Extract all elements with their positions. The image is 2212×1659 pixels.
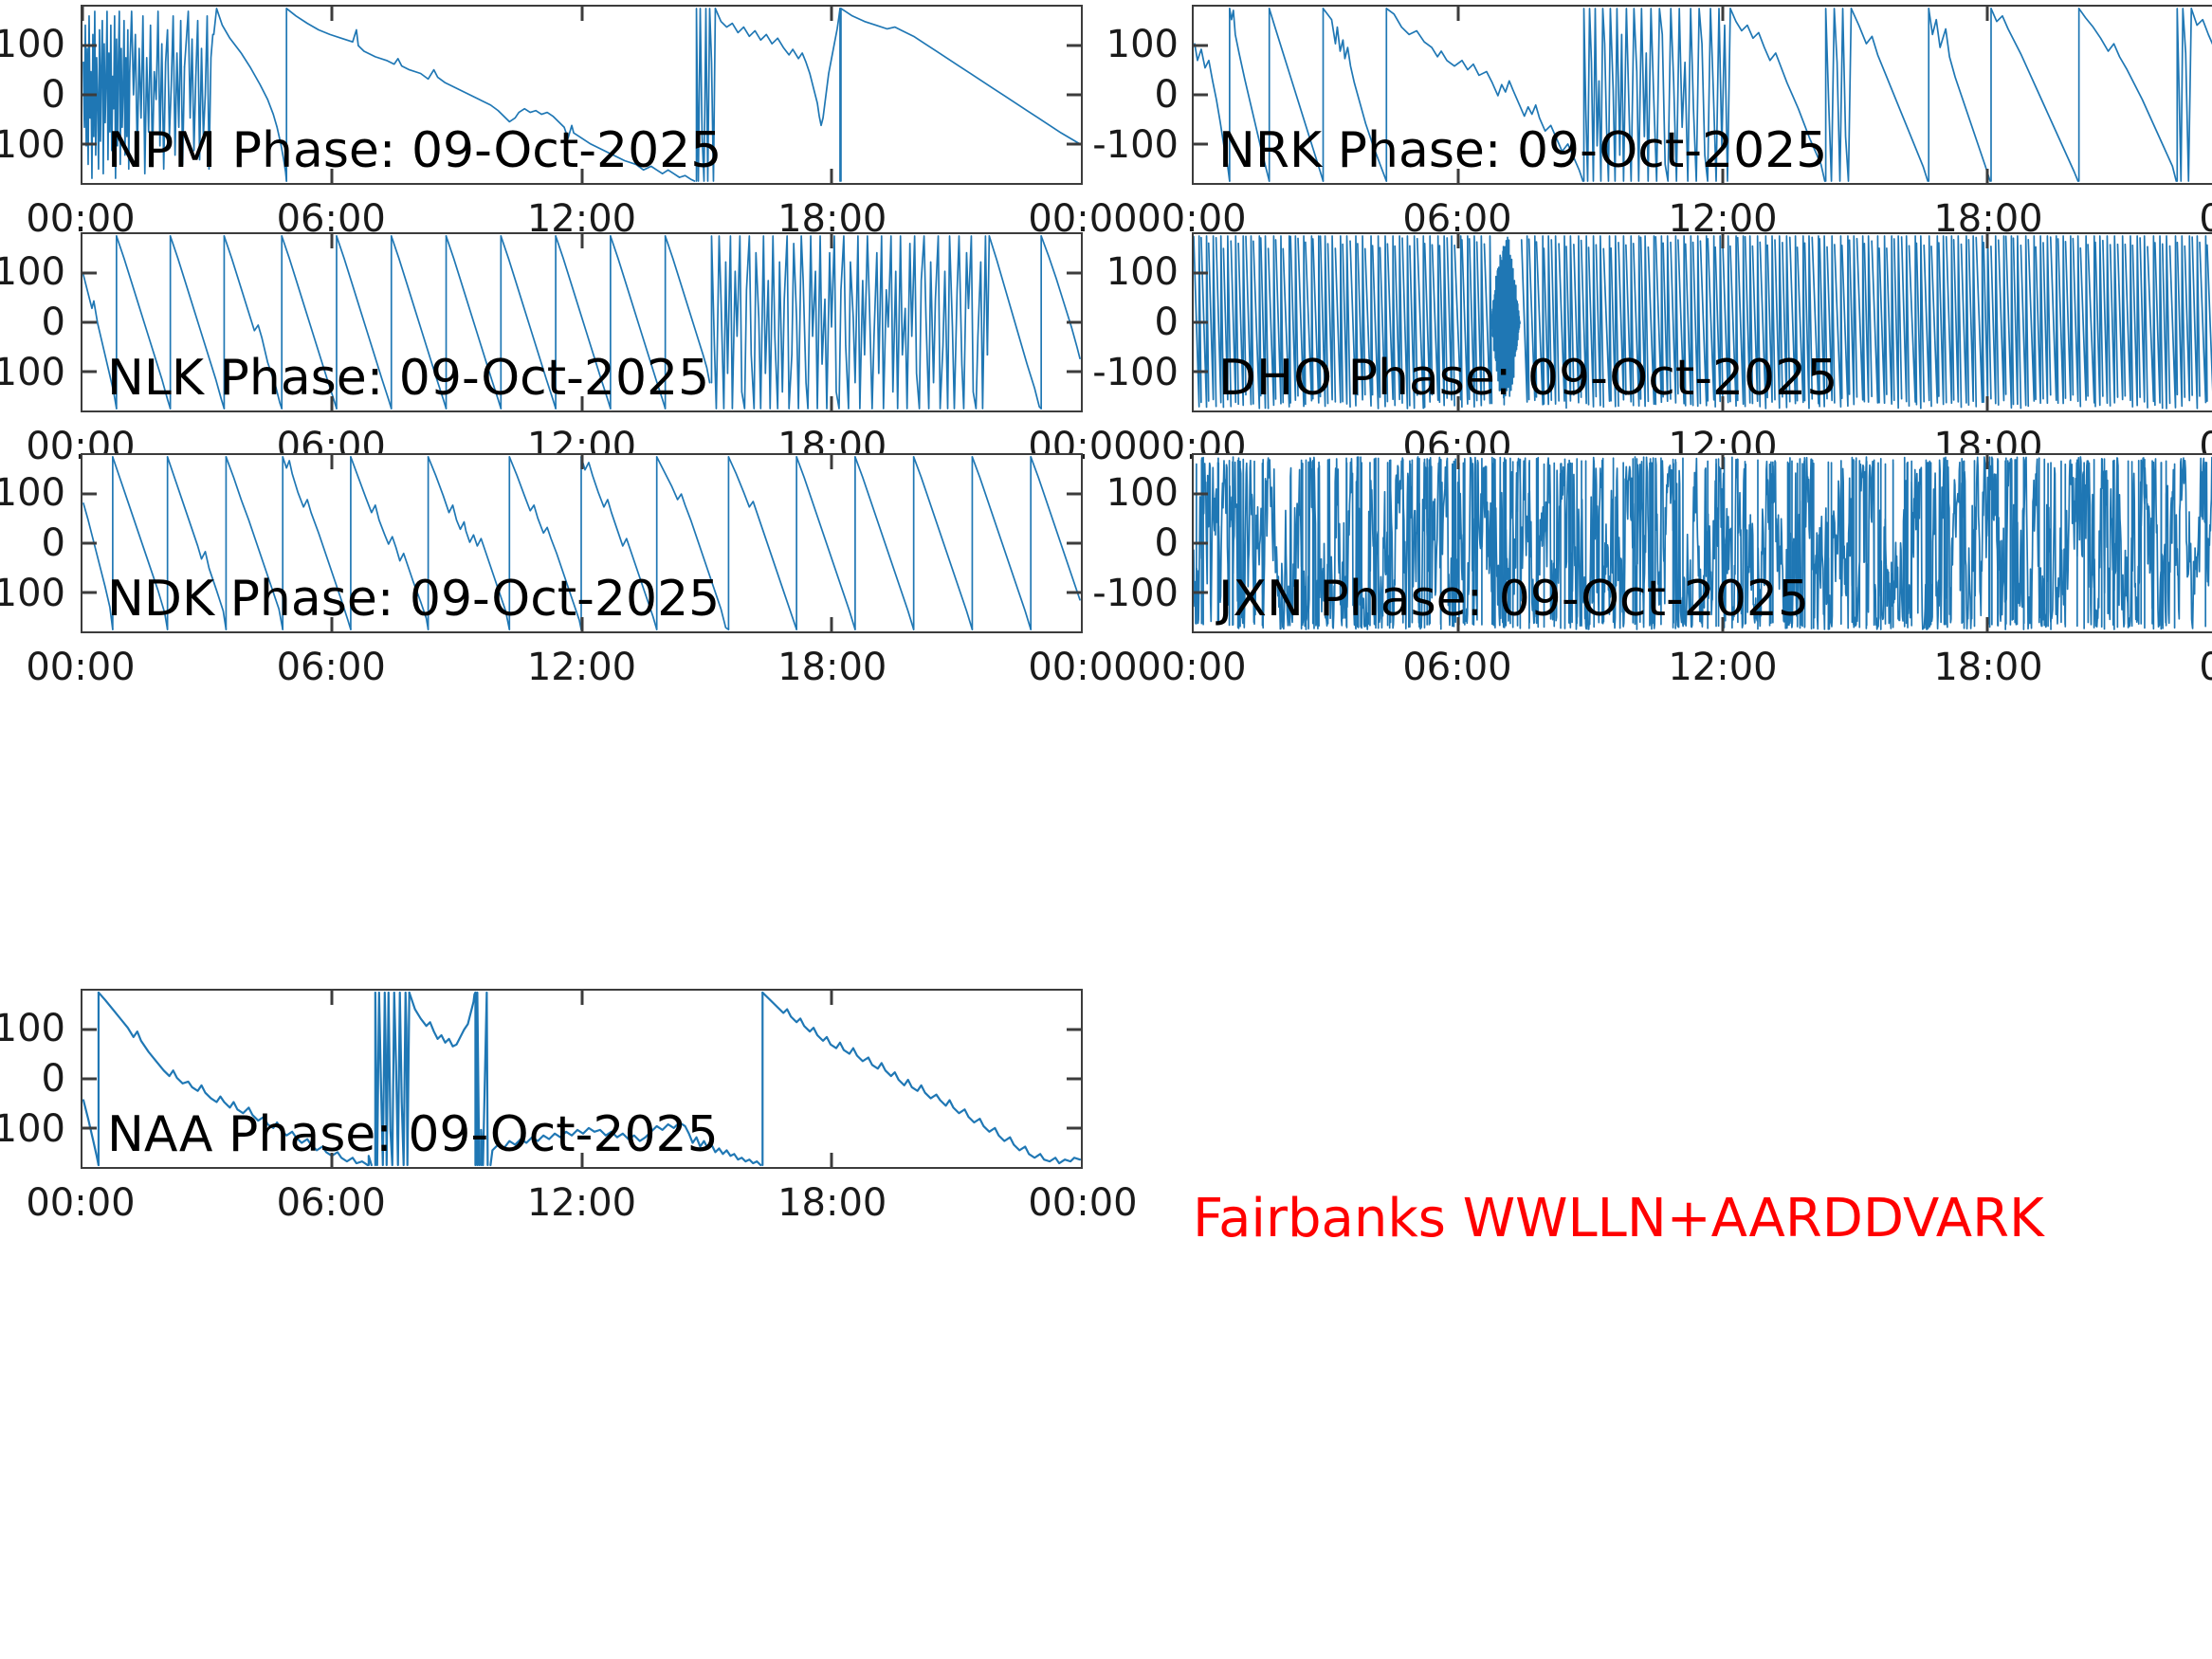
xtick-label-ndk-6: 06:00 <box>277 648 386 686</box>
ytick-mark-right-neg100 <box>1067 370 1081 373</box>
plot-area-npm <box>82 7 1081 183</box>
ytick-mark-0 <box>82 1078 97 1081</box>
ytick-mark-right-100 <box>1067 1029 1081 1031</box>
xtick-label-naa-12: 12:00 <box>527 1184 636 1222</box>
xtick-label-jxn-12: 12:00 <box>1668 648 1777 686</box>
xtick-label-jxn-0: 00:00 <box>1137 648 1246 686</box>
ytick-label-ndk-neg100: 100 <box>0 574 65 612</box>
ytick-label-nlk-100: 100 <box>0 253 65 291</box>
axes-ndk: NDK Phase: 09-Oct-2025 <box>81 453 1083 633</box>
ytick-mark-0 <box>82 94 97 97</box>
ytick-mark-right-neg100 <box>1067 591 1081 593</box>
axes-dho: DHO Phase: 09-Oct-2025 <box>1192 232 2212 412</box>
ytick-label-naa-neg100: 100 <box>0 1110 65 1148</box>
xtick-mark-12 <box>1722 7 1725 21</box>
trace-ndk <box>83 457 1080 629</box>
trace-jxn <box>1194 457 2212 629</box>
xtick-mark-18 <box>1986 7 1989 21</box>
plot-area-naa <box>82 991 1081 1167</box>
ytick-mark-neg100 <box>82 1126 97 1129</box>
trace-naa <box>83 993 1080 1165</box>
xtick-label-ndk-0: 00:00 <box>26 648 135 686</box>
xtick-label-jxn-24: 00:00 <box>2199 648 2212 686</box>
ytick-mark-right-neg100 <box>1067 142 1081 145</box>
panel-nlk: NLK Phase: 09-Oct-2025 100 0 100 00:00 0… <box>81 232 1083 412</box>
xtick-mark-12 <box>580 455 583 469</box>
xtick-mark-bot-12 <box>580 1153 583 1167</box>
ytick-mark-100 <box>1194 45 1208 47</box>
panel-ndk: NDK Phase: 09-Oct-2025 100 0 100 00:00 0… <box>81 453 1083 633</box>
axes-nlk: NLK Phase: 09-Oct-2025 <box>81 232 1083 412</box>
ytick-mark-right-100 <box>1067 272 1081 275</box>
trace-nrk <box>1195 9 2212 181</box>
ytick-mark-right-100 <box>1067 45 1081 47</box>
xtick-mark-bot-18 <box>830 169 832 183</box>
ytick-mark-100 <box>1194 493 1208 496</box>
ytick-mark-neg100 <box>82 370 97 373</box>
ytick-label-jxn-0: 0 <box>1155 524 1179 562</box>
ytick-label-nrk-neg100: -100 <box>1092 126 1179 164</box>
xtick-label-ndk-24: 00:00 <box>1028 648 1137 686</box>
xtick-mark-18 <box>830 7 832 21</box>
ytick-mark-right-0 <box>1067 1078 1081 1081</box>
xtick-mark-bot-6 <box>331 617 334 631</box>
ytick-mark-100 <box>82 45 97 47</box>
ytick-mark-neg100 <box>1194 370 1208 373</box>
xtick-mark-12 <box>1722 455 1725 469</box>
xtick-label-naa-0: 00:00 <box>26 1184 135 1222</box>
ytick-mark-right-neg100 <box>1067 1126 1081 1129</box>
xtick-mark-12 <box>1722 234 1725 248</box>
xtick-label-naa-6: 06:00 <box>277 1184 386 1222</box>
ytick-mark-0 <box>1194 94 1208 97</box>
ytick-label-ndk-0: 0 <box>0 524 65 562</box>
xtick-mark-12 <box>580 991 583 1005</box>
xtick-mark-bot-6 <box>331 396 334 410</box>
xtick-mark-18 <box>830 234 832 248</box>
xtick-mark-18 <box>1986 234 1989 248</box>
xtick-mark-bot-6 <box>1457 396 1460 410</box>
xtick-mark-6 <box>1457 7 1460 21</box>
ytick-mark-right-100 <box>1067 493 1081 496</box>
axes-jxn: JXN Phase: 09-Oct-2025 <box>1192 453 2212 633</box>
ytick-mark-0 <box>82 542 97 545</box>
ytick-label-nrk-100: 100 <box>1106 26 1179 64</box>
ytick-mark-100 <box>82 272 97 275</box>
xtick-mark-bot-12 <box>580 396 583 410</box>
ytick-label-jxn-100: 100 <box>1106 474 1179 512</box>
ytick-mark-right-0 <box>1067 542 1081 545</box>
ytick-mark-100 <box>82 493 97 496</box>
ytick-label-ndk-100: 100 <box>0 474 65 512</box>
xtick-mark-bot-12 <box>1722 169 1725 183</box>
plot-area-nrk <box>1194 7 2212 183</box>
ytick-mark-100 <box>82 1029 97 1031</box>
xtick-mark-bot-12 <box>580 617 583 631</box>
figure-canvas: NPM Phase: 09-Oct-2025 100 0 100 00:00 0… <box>0 0 2212 1659</box>
xtick-mark-bot-6 <box>1457 617 1460 631</box>
panel-naa: NAA Phase: 09-Oct-2025 100 0 100 00:00 0… <box>81 989 1083 1169</box>
ytick-mark-neg100 <box>1194 142 1208 145</box>
ytick-mark-0 <box>82 321 97 324</box>
ytick-mark-neg100 <box>1194 591 1208 593</box>
xtick-mark-6 <box>331 991 334 1005</box>
axes-npm: NPM Phase: 09-Oct-2025 <box>81 5 1083 185</box>
ytick-label-naa-100: 100 <box>0 1010 65 1048</box>
ytick-label-naa-0: 0 <box>0 1060 65 1098</box>
trace-dho <box>1194 236 2212 409</box>
ytick-mark-right-0 <box>1067 321 1081 324</box>
xtick-mark-6 <box>331 234 334 248</box>
trace-nlk <box>83 236 1080 409</box>
panel-npm: NPM Phase: 09-Oct-2025 100 0 100 00:00 0… <box>81 5 1083 185</box>
xtick-label-ndk-12: 12:00 <box>527 648 636 686</box>
xtick-mark-18 <box>830 455 832 469</box>
xtick-mark-bot-6 <box>1457 169 1460 183</box>
ytick-mark-0 <box>1194 542 1208 545</box>
xtick-mark-0 <box>82 7 84 21</box>
xtick-mark-bot-12 <box>1722 396 1725 410</box>
xtick-mark-12 <box>580 7 583 21</box>
xtick-mark-bot-6 <box>331 1153 334 1167</box>
plot-area-dho <box>1194 234 2212 410</box>
xtick-mark-12 <box>580 234 583 248</box>
plot-area-ndk <box>82 455 1081 631</box>
network-annotation: Fairbanks WWLLN+AARDDVARK <box>1193 1193 2044 1246</box>
trace-npm <box>83 9 1080 181</box>
ytick-mark-100 <box>1194 272 1208 275</box>
xtick-mark-bot-12 <box>580 169 583 183</box>
ytick-label-dho-100: 100 <box>1106 253 1179 291</box>
xtick-mark-bot-18 <box>830 396 832 410</box>
ytick-mark-right-0 <box>1067 94 1081 97</box>
ytick-label-nlk-neg100: 100 <box>0 354 65 392</box>
xtick-label-naa-24: 00:00 <box>1028 1184 1137 1222</box>
xtick-mark-bot-18 <box>1986 169 1989 183</box>
ytick-label-nlk-0: 0 <box>0 303 65 341</box>
ytick-label-nrk-0: 0 <box>1155 76 1179 114</box>
xtick-mark-18 <box>1986 455 1989 469</box>
xtick-mark-6 <box>1457 455 1460 469</box>
xtick-mark-6 <box>1457 234 1460 248</box>
ytick-label-dho-neg100: -100 <box>1092 354 1179 392</box>
ytick-mark-neg100 <box>82 142 97 145</box>
plot-area-jxn <box>1194 455 2212 631</box>
plot-area-nlk <box>82 234 1081 410</box>
ytick-label-npm-0: 0 <box>0 76 65 114</box>
panel-nrk: NRK Phase: 09-Oct-2025 100 0 -100 00:00 … <box>1192 5 2212 185</box>
xtick-mark-bot-18 <box>830 1153 832 1167</box>
xtick-label-ndk-18: 18:00 <box>777 648 887 686</box>
xtick-mark-6 <box>331 7 334 21</box>
ytick-label-npm-neg100: 100 <box>0 126 65 164</box>
ytick-mark-neg100 <box>82 591 97 593</box>
ytick-label-npm-100: 100 <box>0 26 65 64</box>
panel-jxn: JXN Phase: 09-Oct-2025 100 0 -100 00:00 … <box>1192 453 2212 633</box>
axes-nrk: NRK Phase: 09-Oct-2025 <box>1192 5 2212 185</box>
xtick-mark-bot-6 <box>331 169 334 183</box>
xtick-mark-bot-18 <box>1986 396 1989 410</box>
xtick-mark-bot-18 <box>830 617 832 631</box>
ytick-mark-0 <box>1194 321 1208 324</box>
ytick-label-dho-0: 0 <box>1155 303 1179 341</box>
xtick-label-naa-18: 18:00 <box>777 1184 887 1222</box>
ytick-label-jxn-neg100: -100 <box>1092 574 1179 612</box>
axes-naa: NAA Phase: 09-Oct-2025 <box>81 989 1083 1169</box>
xtick-mark-bot-12 <box>1722 617 1725 631</box>
xtick-mark-18 <box>830 991 832 1005</box>
xtick-mark-6 <box>331 455 334 469</box>
xtick-label-jxn-18: 18:00 <box>1933 648 2042 686</box>
xtick-label-jxn-6: 06:00 <box>1402 648 1511 686</box>
panel-dho: DHO Phase: 09-Oct-2025 100 0 -100 00:00 … <box>1192 232 2212 412</box>
xtick-mark-bot-18 <box>1986 617 1989 631</box>
